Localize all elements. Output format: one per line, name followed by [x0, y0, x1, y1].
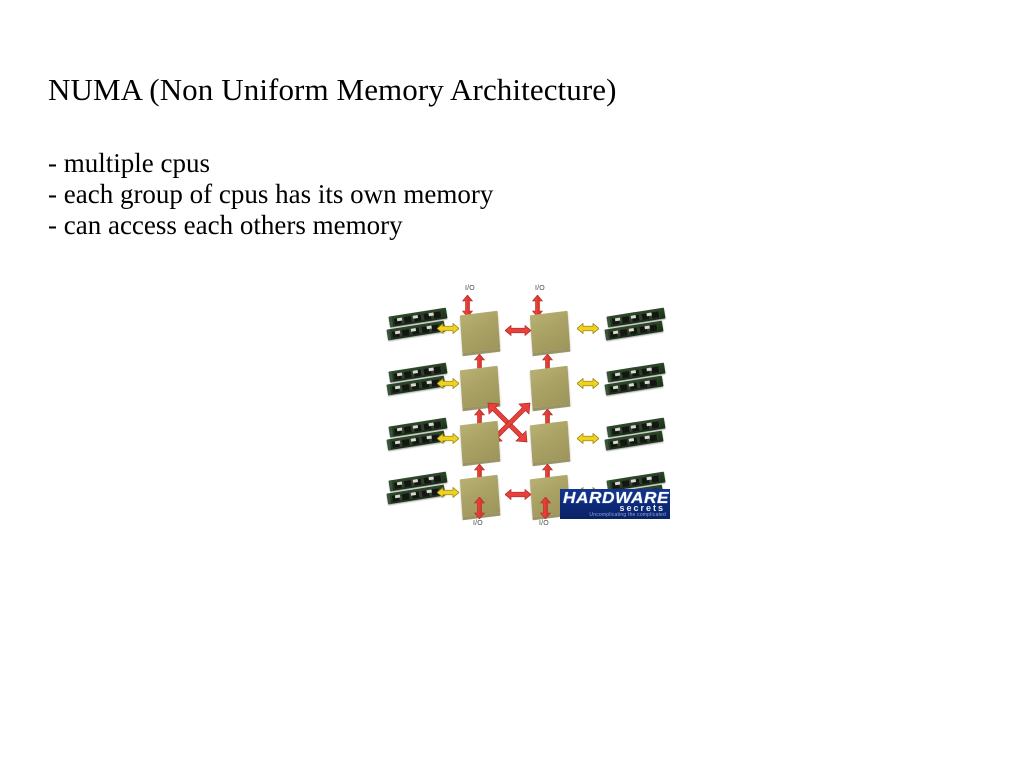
memory-link-arrow-row2-right: [577, 378, 599, 389]
list-item: - each group of cpus has its own memory: [48, 179, 493, 210]
cpu-die-row1-col2: [530, 311, 570, 354]
io-label-top-right: I/O: [535, 285, 545, 292]
io-label-bottom-left: I/O: [473, 520, 483, 527]
cpu-die-row2-col2: [530, 366, 570, 409]
bullet-list: - multiple cpus - each group of cpus has…: [48, 148, 493, 241]
page-title: NUMA (Non Uniform Memory Architecture): [48, 74, 617, 107]
logo-tagline: Uncomplicating the complicated: [589, 512, 666, 518]
memory-bank-row1-right: [605, 311, 665, 345]
cpu-interconnect-row4: [505, 489, 531, 500]
memory-link-arrow-row3-right: [577, 433, 599, 444]
io-arrow-bottom-right: [540, 497, 551, 519]
cpu-interconnect-row1: [505, 325, 531, 336]
memory-bank-row2-right: [605, 366, 665, 400]
memory-link-arrow-row1-left: [437, 323, 459, 334]
io-arrow-bottom-left: [474, 497, 485, 519]
memory-link-arrow-row4-left: [437, 487, 459, 498]
hardware-secrets-logo: HARDWARE secrets Uncomplicating the comp…: [560, 489, 670, 519]
cpu-die-row3-col2: [530, 421, 570, 464]
numa-architecture-diagram: I/O I/O: [385, 283, 675, 531]
cpu-die-row1-col1: [460, 311, 500, 354]
list-item: - can access each others memory: [48, 210, 493, 241]
list-item: - multiple cpus: [48, 148, 493, 179]
io-label-top-left: I/O: [465, 285, 475, 292]
memory-link-arrow-row3-left: [437, 433, 459, 444]
memory-bank-row3-right: [605, 421, 665, 455]
cpu-die-row3-col1: [460, 421, 500, 464]
io-label-bottom-right: I/O: [539, 520, 549, 527]
memory-link-arrow-row1-right: [577, 323, 599, 334]
memory-link-arrow-row2-left: [437, 378, 459, 389]
